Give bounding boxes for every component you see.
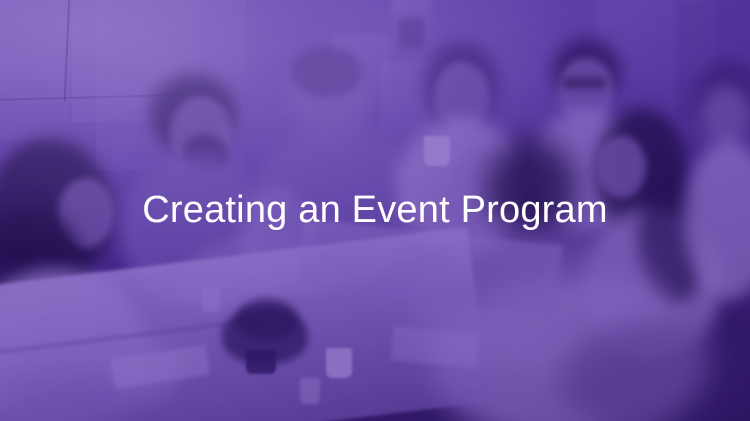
purple-overlay-highlight: [0, 0, 750, 421]
hero-background-photo: [0, 0, 750, 421]
title-slide: Creating an Event Program: [0, 0, 750, 421]
